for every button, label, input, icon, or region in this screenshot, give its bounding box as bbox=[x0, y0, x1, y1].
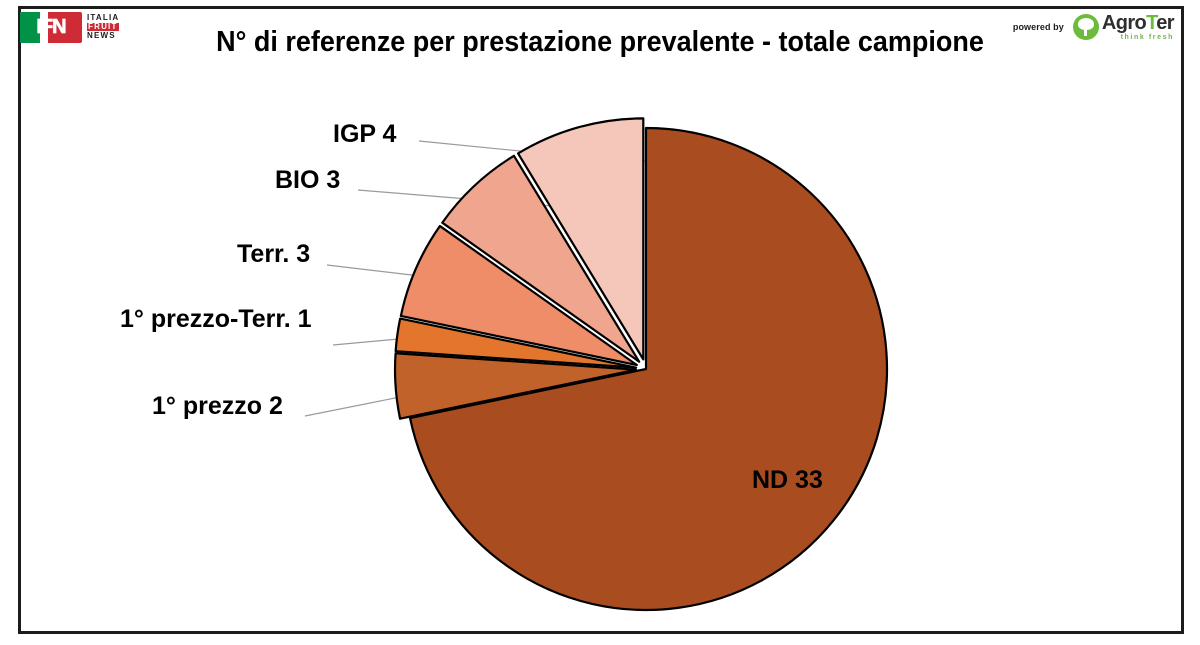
ifn-logo: IFN ITALIA FRUIT NEWS bbox=[20, 9, 130, 45]
agroter-logo: powered by AgroTer think fresh bbox=[1013, 10, 1174, 44]
powered-by-label: powered by bbox=[1013, 22, 1064, 32]
slice-label-igp: IGP 4 bbox=[333, 120, 396, 149]
agroter-wordmark: AgroTer think fresh bbox=[1102, 13, 1174, 41]
slice-label-primo-prezzo-terr: 1° prezzo-Terr. 1 bbox=[120, 305, 312, 334]
slide-canvas: IFN ITALIA FRUIT NEWS powered by AgroTer… bbox=[0, 0, 1200, 645]
agroter-name-agro: Agro bbox=[1102, 12, 1146, 34]
agroter-tagline: think fresh bbox=[1102, 34, 1174, 41]
page-title: N° di referenze per prestazione prevalen… bbox=[42, 26, 1158, 59]
agroter-name-er: er bbox=[1156, 12, 1174, 34]
pie-chart: IGP 4 BIO 3 Terr. 3 1° prezzo-Terr. 1 1°… bbox=[0, 0, 1200, 645]
pie-slice-group bbox=[395, 118, 887, 610]
ifn-line-news: NEWS bbox=[87, 32, 119, 40]
agroter-name: AgroTer bbox=[1102, 13, 1174, 33]
slice-label-bio: BIO 3 bbox=[275, 166, 340, 195]
agroter-mark: AgroTer think fresh bbox=[1073, 13, 1174, 41]
ifn-wordmark: ITALIA FRUIT NEWS bbox=[87, 14, 119, 40]
slice-label-primo-prezzo: 1° prezzo 2 bbox=[152, 392, 283, 421]
slice-label-terr: Terr. 3 bbox=[237, 240, 310, 269]
tree-icon bbox=[1073, 14, 1099, 40]
agroter-name-t: T bbox=[1146, 12, 1156, 34]
tree-trunk-shape bbox=[1084, 27, 1087, 36]
slice-label-nd: ND 33 bbox=[752, 466, 823, 495]
ifn-monogram: IFN bbox=[20, 12, 82, 43]
ifn-line-fruit: FRUIT bbox=[87, 23, 119, 31]
ifn-flag-mark: IFN bbox=[20, 12, 82, 43]
